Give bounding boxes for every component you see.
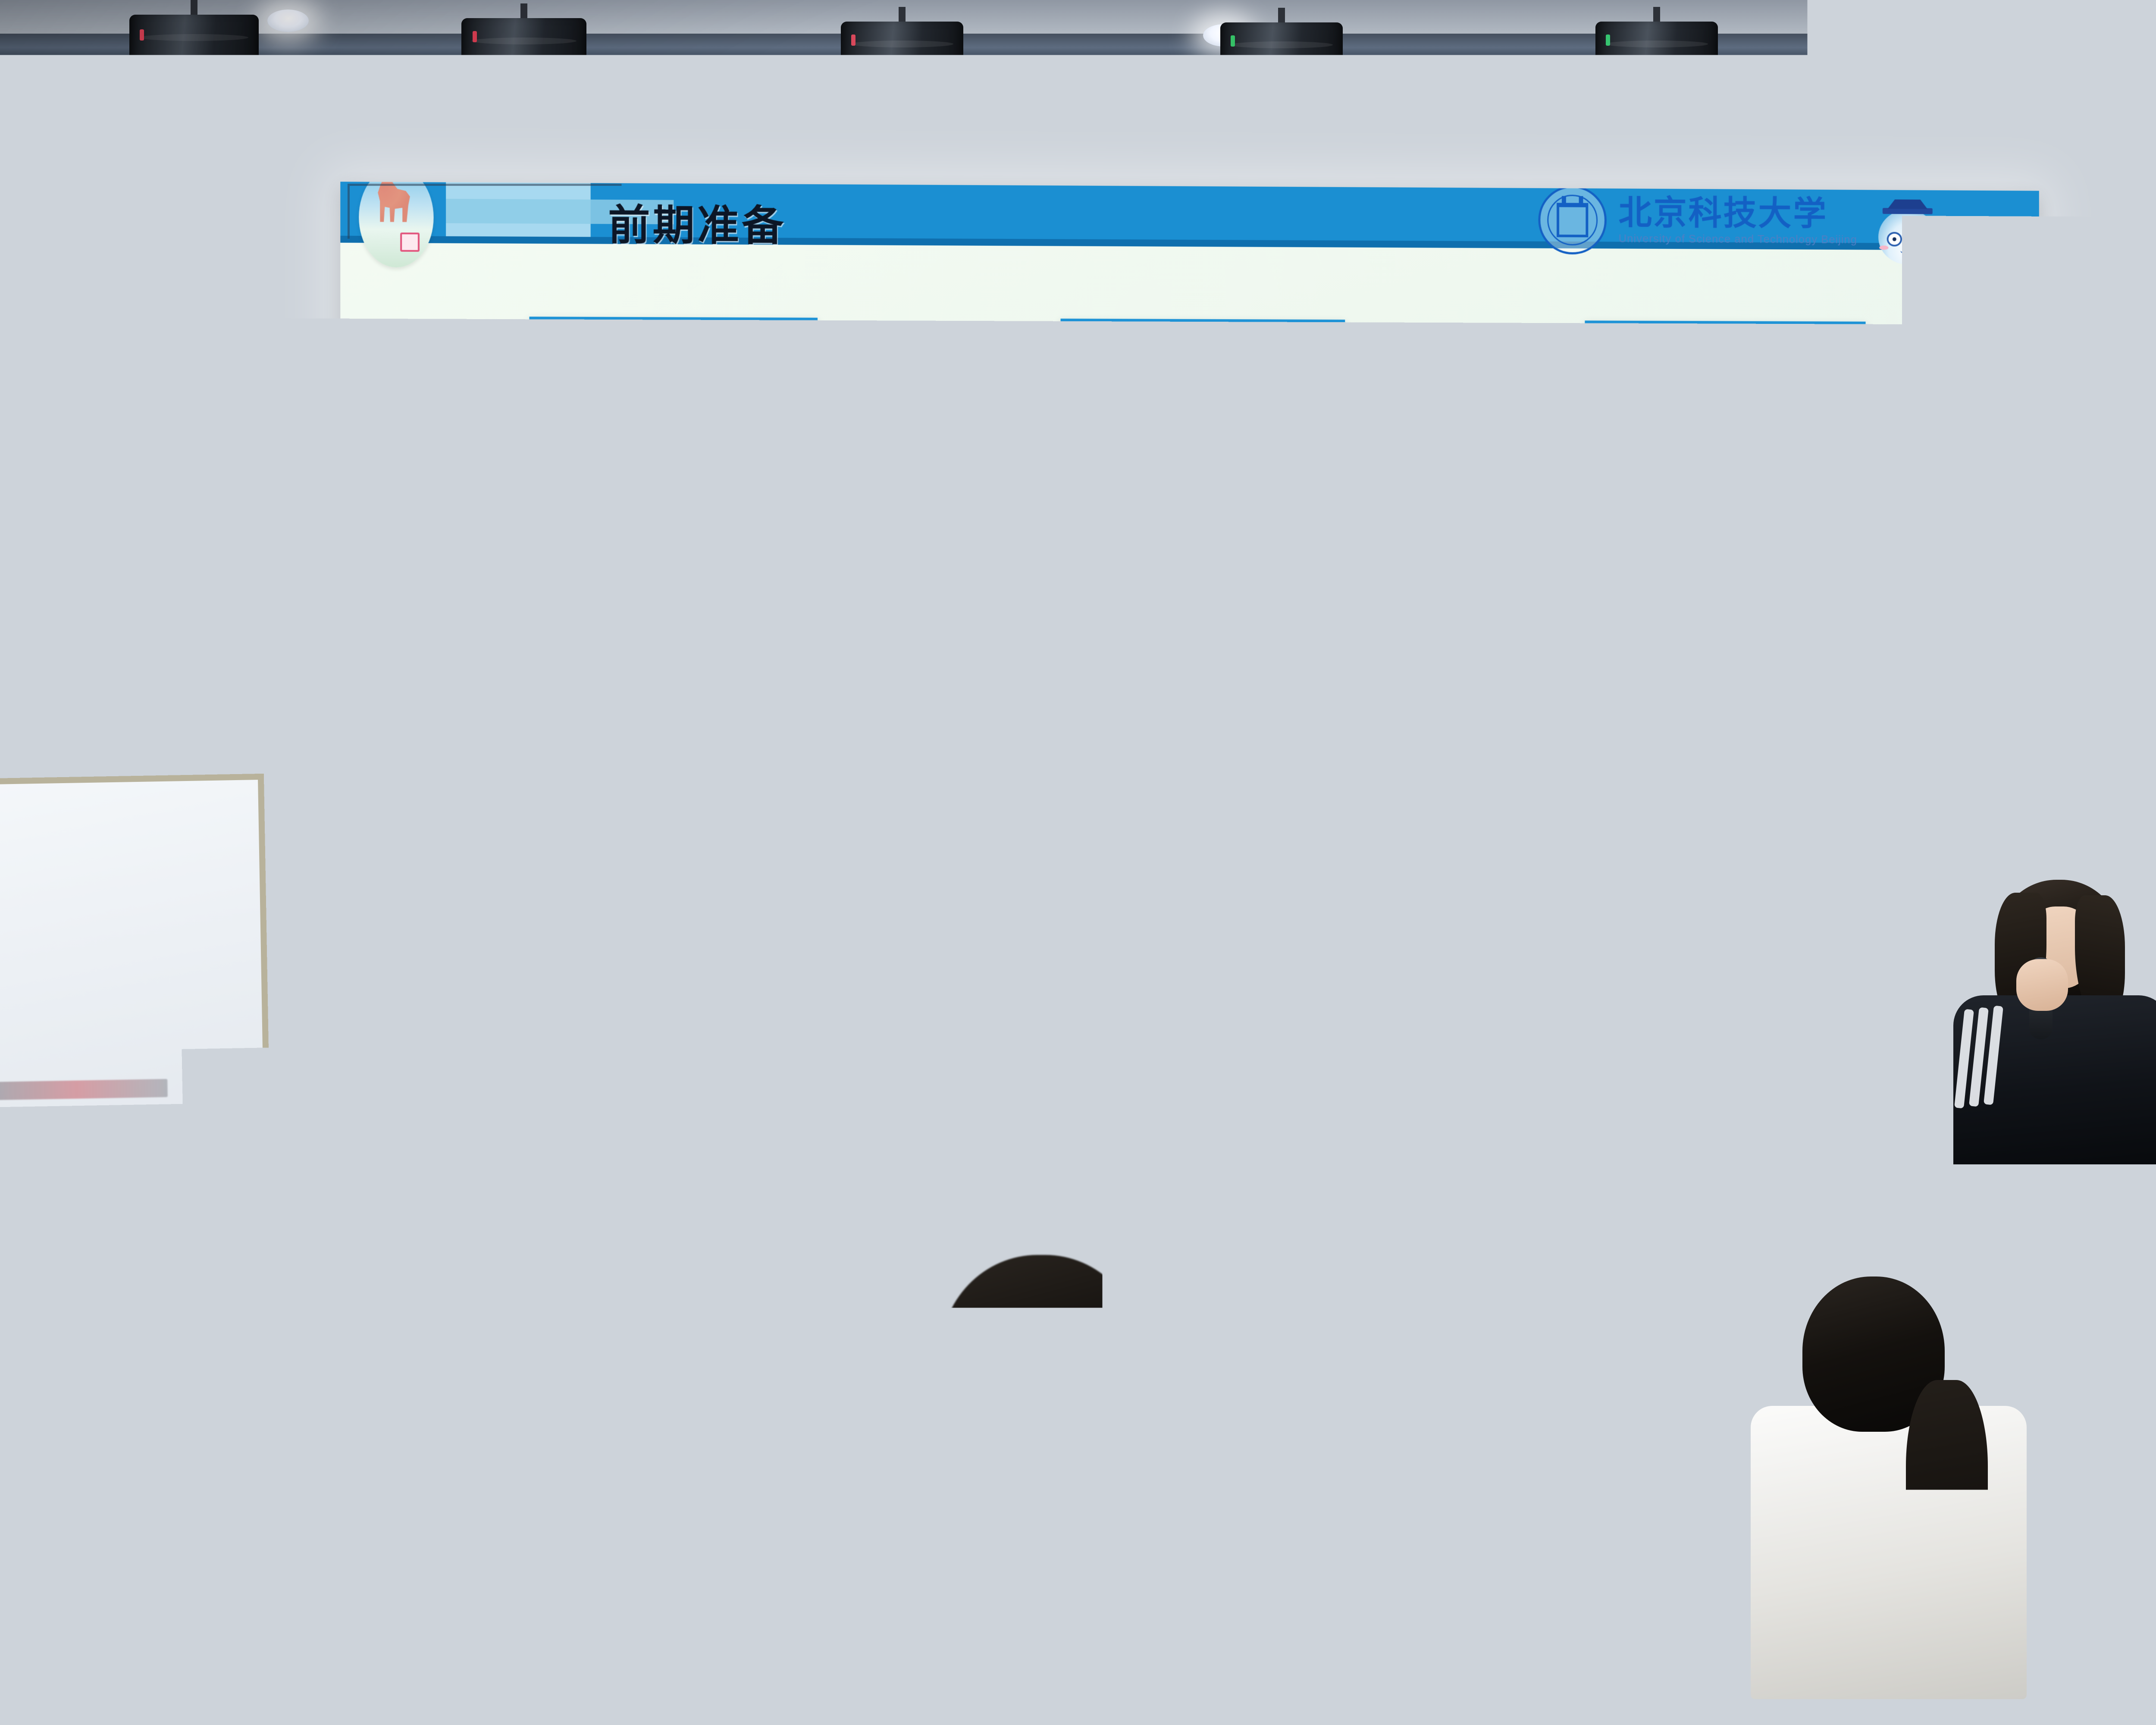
caption-2: 联系学校，准备宣讲 工作进行有条不紊！: [1026, 884, 1422, 954]
avatar: [950, 578, 977, 605]
university-name-en: University of Science and Technology Bei…: [1619, 232, 1857, 246]
mascot-glasses-right: [1913, 232, 1928, 247]
windows-icon[interactable]: [1933, 379, 1987, 416]
seated-listener: [1872, 762, 1925, 851]
chat-bubble: 我们应该在小年之前放假，放假前都可以。具体时间你确定了告诉我就行。: [1081, 676, 1322, 719]
stage-spotlight: [129, 0, 259, 122]
palette-icon[interactable]: [1933, 443, 1987, 480]
abc-label: ABC: [1947, 339, 1973, 358]
spotlight-led: [1231, 35, 1235, 47]
ceiling-band-secondary: [0, 85, 2156, 102]
caption-1-line-2: 确定前期工作内容: [525, 920, 891, 956]
wall-outlet: [276, 1195, 307, 1241]
caption-1-line-1: 及时召开工作会议: [525, 886, 891, 922]
wall-sign-screen: [69, 198, 142, 248]
chat-message-row: 如有特殊情况无法参加的请提前联系我🌹: [555, 672, 978, 703]
wall-upper-strip: [0, 108, 2156, 135]
audience-head: [26, 1298, 207, 1488]
spotlight-ring: [1933, 37, 2038, 44]
ceiling-downlight: [267, 9, 309, 32]
mascot-smile: [1900, 248, 1915, 254]
ding-vessel-icon: [1557, 203, 1588, 237]
whiteboard-marks: [0, 1079, 168, 1100]
whiteboard-surface: [0, 774, 271, 1180]
chat-message-row: 吉主任您好，我是24届应届生陈雪莹，现就读于北京科技大学。我在大学报名了寒招活动…: [1055, 581, 1469, 669]
student-folder: [1776, 709, 1818, 747]
audience-ponytail: [1518, 1389, 1591, 1552]
mascot-cheek-left: [1879, 245, 1889, 250]
blackboard: [1642, 566, 1860, 756]
flow-arrow-2-icon: [1345, 368, 1585, 401]
predefense-photo: [1632, 558, 1929, 859]
chat-bubble: @所有人 我们计划在这周日下午开一次工作会议，主要是确定一下大家的分工和前期工作…: [701, 578, 945, 666]
stage-spotlight: [1923, 3, 2048, 124]
whiteboard-tray: [0, 1184, 271, 1204]
audience-head: [940, 1255, 1143, 1466]
caption-2-line-1: 联系学校，准备宣讲: [1026, 884, 1422, 920]
windows-glyph: [1949, 388, 1971, 407]
classroom-screen: [1857, 560, 1928, 774]
save-label: SAVE: [1949, 501, 1971, 522]
spotlight-led: [140, 29, 144, 41]
classroom-desk-front: [1639, 815, 1716, 857]
floating-toolbar: ✒ ABC SAVE: [1928, 280, 1992, 530]
audience-head: [285, 1251, 487, 1466]
spotlight-ring: [1605, 41, 1708, 47]
avatar: [950, 672, 978, 699]
projection-screen: 前期准备 北京科技大学 University of Science and Te…: [340, 182, 2039, 1049]
mascot-glasses-left: [1887, 232, 1902, 247]
whiteboard-marker: [0, 1192, 38, 1200]
red-seal-icon: [400, 232, 420, 252]
chat-bubble: 好哒谢谢吉主任，您早点休息～打扰您啦: [1231, 724, 1438, 753]
presenter-hand: [2016, 959, 2068, 1011]
audience-head: [625, 1242, 819, 1445]
university-name-cn: 北京科技大学: [1619, 196, 1857, 230]
ceiling-band: [0, 34, 2156, 65]
lecture-hall-scene: ⚠ 17:06 前期准备: [0, 0, 2156, 1725]
flow-step-3: 参加预答辩: [1585, 320, 1865, 450]
flow-step-2: 任务分工: [1061, 319, 1345, 449]
university-logo: 北京科技大学 University of Science and Technol…: [1538, 185, 1857, 256]
mascot-graduation-cap-icon: [1888, 199, 1927, 209]
audience-head: [1492, 1535, 1716, 1725]
seat-row-desk: [1457, 1264, 1837, 1311]
caption-2-line-2: 工作进行有条不紊！: [1026, 919, 1422, 954]
pen-icon[interactable]: ✒: [1933, 280, 1987, 317]
avatar: [1443, 724, 1470, 751]
caption-3: 认真准备预答辩 阐述团队工作计划: [1593, 882, 1967, 952]
whiteboard-marker: [60, 1191, 116, 1199]
chat-date: 11月16日 晚上19:57: [1047, 562, 1476, 577]
flow-step-1: 召开工作会议: [529, 317, 818, 448]
page-title: 前期准备: [608, 191, 786, 252]
column-speaker-left: [129, 328, 179, 569]
pink-seal-icon: [1056, 677, 1076, 697]
avatar: [1442, 581, 1469, 608]
wall-sign-panel: ⚠: [60, 190, 151, 267]
caption-3-line-2: 阐述团队工作计划: [1593, 916, 1967, 952]
abc-whiteboard-icon[interactable]: ABC: [1933, 329, 1987, 367]
chat-bubble: 如有特殊情况无法参加的请提前联系我🌹: [733, 672, 945, 701]
spotlight-led: [1934, 29, 1939, 41]
presenter: [1940, 880, 2156, 1147]
stage-backdrop-dark: [350, 1044, 2049, 1213]
camel-jacket-logo: CAMEL: [711, 1535, 811, 1583]
slide-camel-badge: [359, 182, 433, 267]
spotlight-ring: [471, 38, 577, 44]
spotlight-ring: [140, 34, 248, 41]
process-flow: 召开工作会议 任务分工 参加预答辩: [529, 317, 1865, 450]
save-icon[interactable]: SAVE: [1933, 493, 1987, 530]
camel-icon: [371, 182, 414, 224]
audience-member: [2070, 1423, 2156, 1699]
presenting-student: [1772, 661, 1822, 833]
chat-message-row: 好哒谢谢吉主任，您早点休息～打扰您啦: [1056, 724, 1470, 755]
audience-head: [1363, 1207, 1470, 1333]
student-head: [1781, 631, 1813, 669]
audience-ponytail: [1906, 1380, 1988, 1604]
chat-screenshot-front: 2024年11月22日 10:08 @所有人 我们计划在这周日下午开一次工作会议…: [545, 553, 987, 866]
chat-message-row: 我们应该在小年之前放假，放假前都可以。具体时间你确定了告诉我就行。: [1056, 674, 1470, 719]
flow-arrow-1-icon: [818, 366, 1061, 400]
spotlight-led: [1606, 34, 1610, 46]
mascot-icon: [1876, 198, 1939, 266]
university-seal-icon: [1538, 185, 1606, 254]
dome-camera-icon: [181, 185, 220, 210]
spotlight-ring: [851, 41, 954, 47]
chat-date: 2024年11月22日 10:08: [545, 558, 984, 575]
toolbar-divider: [1938, 429, 1982, 430]
pen-glyph: ✒: [1953, 290, 1967, 307]
caption-3-line-1: 认真准备预答辩: [1593, 882, 1967, 918]
mascot-cheek-right: [1927, 246, 1936, 250]
chat-message-row: @所有人 我们计划在这周日下午开一次工作会议，主要是确定一下大家的分工和前期工作…: [554, 578, 977, 668]
stage-spotlight: [461, 3, 586, 124]
spotlight-led: [851, 34, 856, 46]
blackboard-rail: [1644, 652, 1858, 654]
wall-sign-text: ⚠: [60, 255, 151, 262]
chat-screenshot-mid: 11月16日 晚上19:57 吉主任您好，我是24届应届生陈雪莹，现就读于北京科…: [1047, 557, 1479, 862]
mobile-whiteboard: [0, 774, 271, 1180]
palette-glyph: [1949, 452, 1971, 472]
spotlight-ring: [1230, 41, 1333, 48]
spotlight-led: [473, 31, 477, 42]
caption-1: 及时召开工作会议 确定前期工作内容: [525, 886, 891, 956]
chat-bubble: 吉主任您好，我是24届应届生陈雪莹，现就读于北京科技大学。我在大学报名了寒招活动…: [1196, 581, 1438, 668]
